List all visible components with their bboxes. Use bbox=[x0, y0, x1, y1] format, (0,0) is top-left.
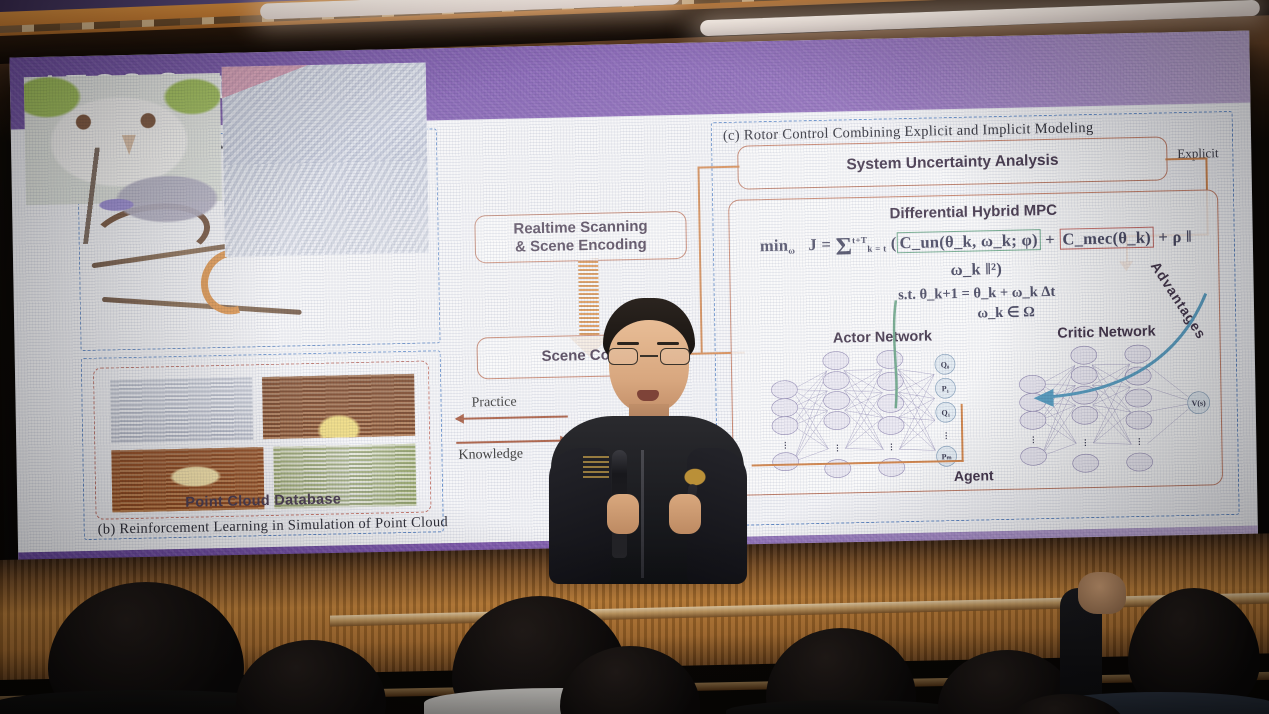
sum-upper-limit: t+T bbox=[852, 235, 867, 245]
jacket-sleeve-patch bbox=[583, 456, 609, 478]
summation-symbol: Σ bbox=[835, 233, 852, 260]
svg-text:P₁: P₁ bbox=[942, 384, 950, 393]
min-subscript: ω bbox=[788, 245, 795, 255]
svg-text:Q₁: Q₁ bbox=[941, 408, 950, 417]
agent-label: Agent bbox=[954, 467, 994, 484]
glasses-lens-right bbox=[660, 348, 690, 365]
glasses-bridge bbox=[640, 355, 658, 357]
svg-text:⋮: ⋮ bbox=[1029, 435, 1037, 444]
presenter-brow-right bbox=[657, 342, 679, 345]
svg-text:⋮: ⋮ bbox=[833, 444, 841, 453]
svg-text:⋮: ⋮ bbox=[781, 441, 789, 450]
presenter-hand-right bbox=[669, 494, 701, 534]
svg-text:⋮: ⋮ bbox=[887, 442, 895, 451]
presenter-mouth bbox=[637, 390, 659, 401]
svg-text:⋮: ⋮ bbox=[942, 431, 950, 440]
point-cloud-database-box: Point Cloud Database bbox=[93, 360, 432, 519]
cost-uncertainty-term: C_un(θ_k, ω_k; φ) bbox=[896, 229, 1041, 253]
scan-image-2 bbox=[223, 160, 429, 256]
audience-hand-7 bbox=[1078, 572, 1126, 614]
presentation-photo: AEOS-System Design (a) Bio-Inspired Acti… bbox=[0, 0, 1269, 714]
sum-lower-limit: k = t bbox=[867, 243, 886, 253]
advantages-arc-arrow bbox=[974, 281, 1227, 436]
presenter bbox=[545, 298, 750, 580]
realtime-scanning-callout: Realtime Scanning & Scene Encoding bbox=[474, 211, 687, 264]
presenter-glasses bbox=[607, 348, 691, 365]
min-operator: min bbox=[760, 236, 789, 256]
presenter-brow-left bbox=[617, 342, 639, 345]
jacket-zipper bbox=[641, 450, 644, 578]
svg-text:Q₀: Q₀ bbox=[941, 360, 950, 369]
realtime-scanning-line-2: & Scene Encoding bbox=[514, 236, 648, 257]
mpc-actor-green-link bbox=[876, 300, 918, 411]
system-uncertainty-box: System Uncertainty Analysis bbox=[737, 136, 1168, 189]
knowledge-label: Knowledge bbox=[458, 446, 523, 463]
glasses-lens-left bbox=[608, 348, 638, 365]
svg-text:⋮: ⋮ bbox=[1081, 438, 1089, 447]
differential-mpc-label: Differential Hybrid MPC bbox=[729, 198, 1217, 226]
mpc-objective-line: minω J = Σt+Tk = t (C_un(θ_k, ω_k; φ) + … bbox=[756, 225, 1197, 284]
point-cloud-thumb-2 bbox=[262, 374, 415, 439]
practice-label: Practice bbox=[471, 395, 516, 412]
objective-body: J = bbox=[808, 235, 831, 254]
system-uncertainty-label: System Uncertainty Analysis bbox=[846, 152, 1058, 175]
point-cloud-thumb-1 bbox=[110, 377, 253, 442]
presenter-hand-left bbox=[607, 494, 639, 534]
cost-mechanical-term: C_mec(θ_k) bbox=[1059, 227, 1154, 250]
svg-text:⋮: ⋮ bbox=[1135, 437, 1143, 446]
